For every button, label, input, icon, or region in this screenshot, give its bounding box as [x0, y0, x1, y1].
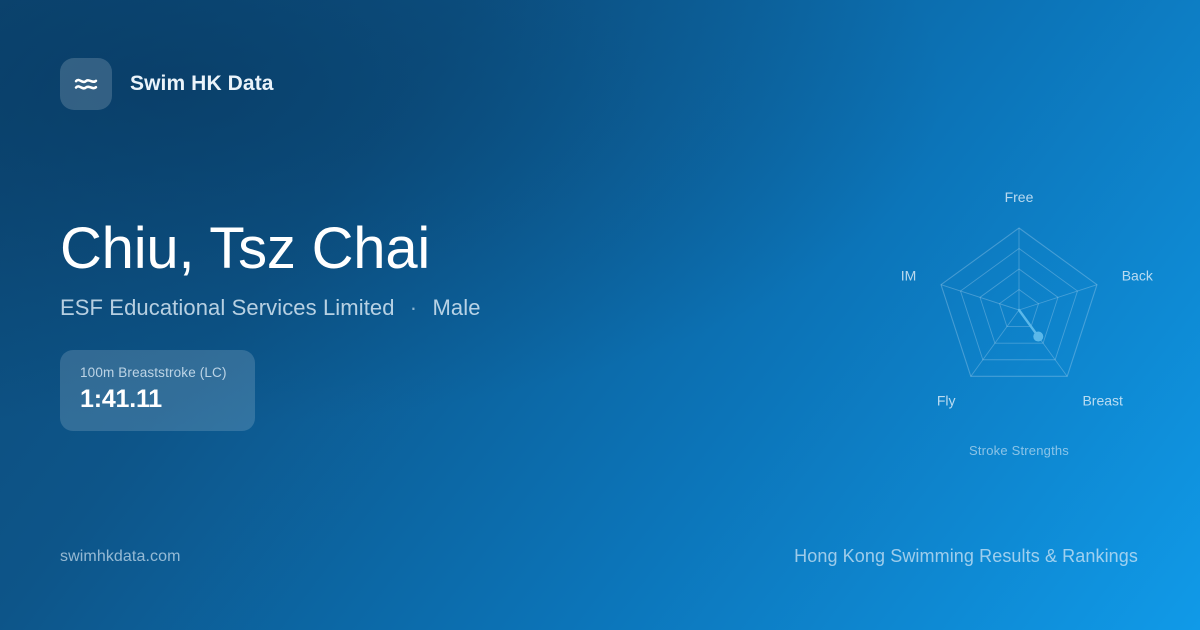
- radar-data-markers: [1033, 332, 1043, 342]
- meta-separator: ·: [401, 295, 426, 320]
- hero-block: Chiu, Tsz Chai ESF Educational Services …: [60, 218, 481, 321]
- og-card-canvas: Swim HK Data Chiu, Tsz Chai ESF Educatio…: [0, 0, 1200, 630]
- stat-card-time-value: 1:41.11: [80, 385, 235, 414]
- brand-lockup[interactable]: Swim HK Data: [60, 58, 274, 110]
- stat-card-best-time[interactable]: 100m Breaststroke (LC) 1:41.11: [60, 350, 255, 431]
- athlete-meta-line: ESF Educational Services Limited · Male: [60, 295, 481, 321]
- footer-site-url[interactable]: swimhkdata.com: [60, 548, 181, 566]
- athlete-gender: Male: [432, 295, 480, 320]
- stroke-strengths-radar-chart: FreeBackBreastFlyIM: [869, 170, 1169, 470]
- stat-card-event-label: 100m Breaststroke (LC): [80, 365, 235, 380]
- footer-tagline: Hong Kong Swimming Results & Rankings: [794, 546, 1138, 567]
- page-title: Chiu, Tsz Chai: [60, 218, 481, 279]
- radar-axis-label-fly: Fly: [937, 392, 956, 408]
- radar-axis-label-free: Free: [1005, 189, 1034, 205]
- athlete-club: ESF Educational Services Limited: [60, 295, 395, 320]
- radar-axis-label-back: Back: [1122, 268, 1154, 284]
- chart-caption: Stroke Strengths: [869, 443, 1169, 458]
- wave-approx-icon: [60, 58, 112, 110]
- radar-axis-label-im: IM: [901, 268, 917, 284]
- radar-axis-label-breast: Breast: [1082, 392, 1123, 408]
- brand-name: Swim HK Data: [130, 72, 274, 96]
- radar-axis-labels: FreeBackBreastFlyIM: [901, 189, 1154, 408]
